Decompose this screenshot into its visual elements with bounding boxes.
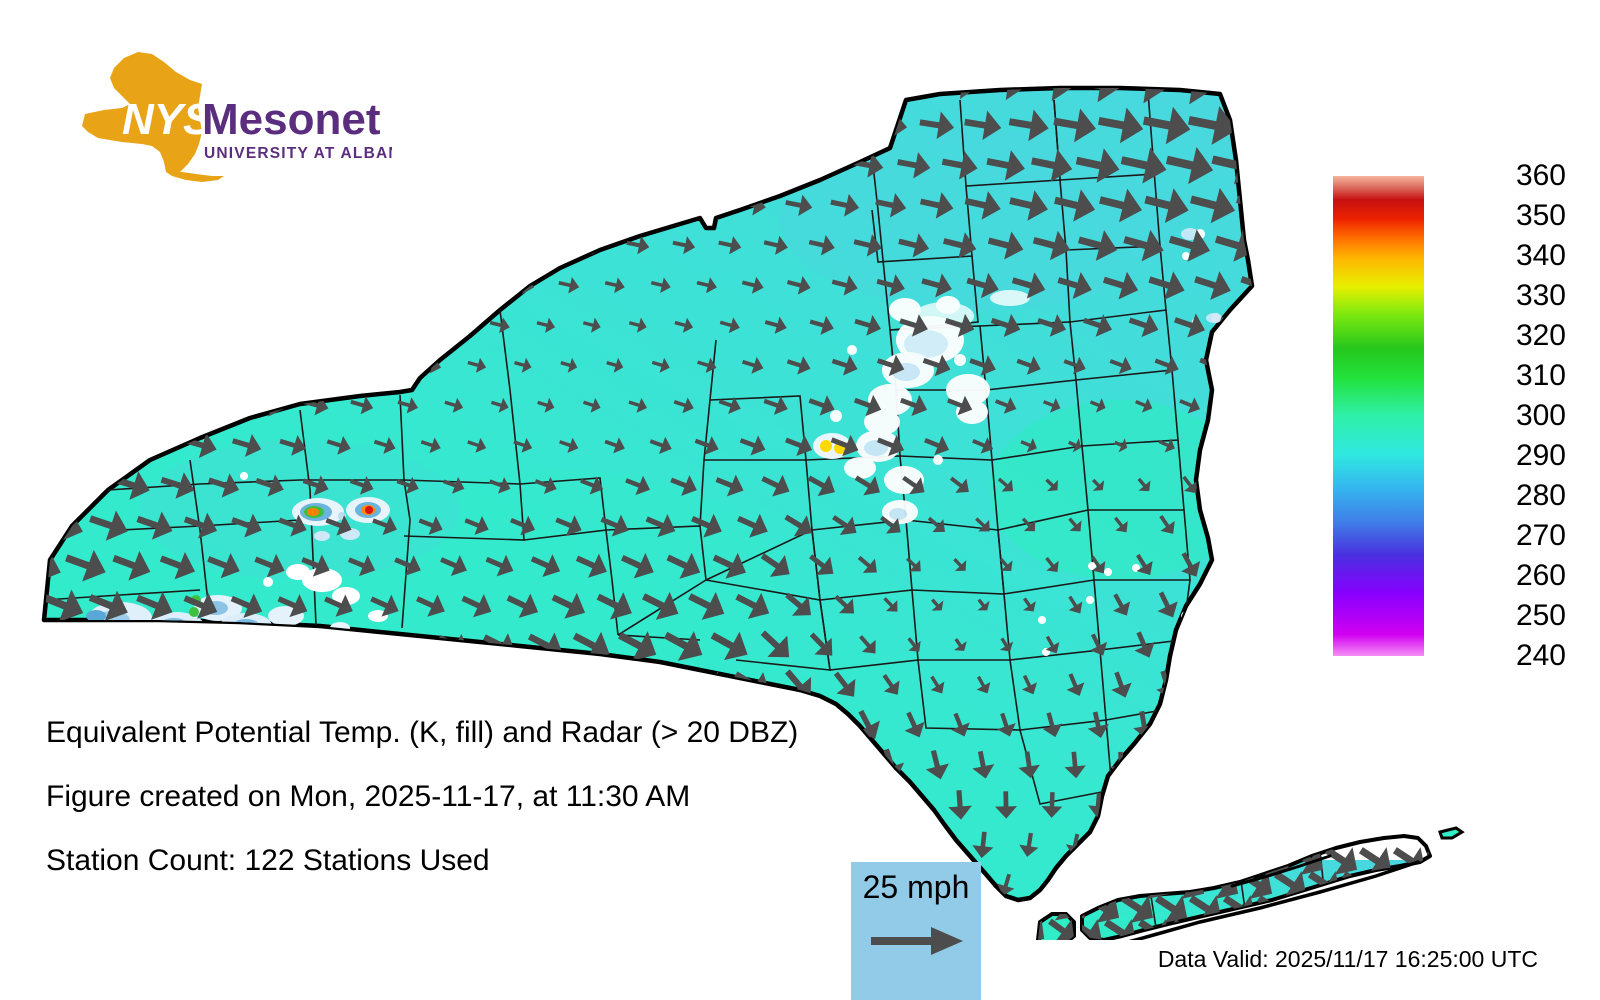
wind-arrow (290, 64, 342, 106)
caption-station-count: Station Count: 122 Stations Used (46, 846, 906, 876)
wind-arrow (714, 151, 746, 178)
wind-arrow (201, 225, 247, 264)
wind-arrow (1244, 668, 1273, 702)
wind-arrow (385, 145, 432, 184)
wind-arrow (1110, 833, 1132, 858)
island-speck (1440, 828, 1462, 838)
wind-arrow (549, 108, 589, 142)
wind-arrow (1243, 508, 1276, 543)
wind-arrow (1243, 431, 1274, 460)
wind-arrow (596, 109, 634, 141)
wind-arrow (455, 664, 500, 706)
wind-arrow (1156, 752, 1177, 778)
wind-arrow (1386, 884, 1434, 931)
wind-arrow (1352, 884, 1400, 931)
wind-arrow (1420, 884, 1468, 931)
wind-arrow (1369, 908, 1417, 940)
wind-arrow (316, 185, 362, 224)
colorbar-tick-300: 300 (1428, 401, 1566, 431)
wind-arrow (85, 106, 133, 145)
wind-arrow (1247, 832, 1271, 858)
wind-arrow (1156, 833, 1178, 857)
wind-arrow (1196, 586, 1230, 623)
wind-arrow (206, 389, 243, 421)
wind-arrow (179, 266, 223, 303)
wind-arrow (477, 66, 524, 104)
wind-arrow (1247, 751, 1271, 779)
wind-arrow (407, 105, 456, 145)
wind-arrow (180, 666, 221, 704)
wind-arrow (1224, 710, 1248, 740)
wind-arrow (13, 620, 67, 670)
wind-arrow (86, 663, 133, 706)
wind-arrow (198, 64, 249, 106)
wind-arrow (61, 622, 112, 669)
colorbar-tick-240: 240 (1428, 641, 1566, 671)
wind-arrow (109, 225, 155, 264)
data-valid-timestamp: Data Valid: 2025/11/17 16:25:00 UTC (1158, 948, 1538, 971)
wind-arrow (1242, 586, 1276, 623)
wind-arrow (410, 188, 451, 223)
wind-arrow (360, 104, 411, 146)
wind-arrow (736, 111, 769, 139)
wind-arrow (454, 106, 500, 144)
wind-arrow (247, 226, 292, 264)
wind-arrow (646, 192, 675, 217)
wind-arrow (65, 386, 108, 424)
wind-arrow (222, 184, 271, 225)
colorbar-tick-270: 270 (1428, 521, 1566, 551)
colorbar-tick-360: 360 (1428, 161, 1566, 191)
wind-arrow (227, 667, 266, 704)
wind-arrow (85, 185, 133, 225)
wind-arrow (363, 186, 407, 223)
wind-arrow (320, 269, 357, 301)
wind-arrow (175, 104, 227, 146)
wind-arrow (1114, 836, 1162, 883)
wind-arrow (273, 268, 313, 302)
wind-arrow (365, 666, 405, 703)
wind-arrow (336, 64, 388, 106)
wind-arrow (759, 71, 793, 99)
wind-arrow (1301, 908, 1349, 940)
wind-arrow (501, 107, 544, 143)
wind-arrow (108, 623, 155, 667)
wind-arrow (588, 660, 642, 711)
colorbar-tick-320: 320 (1428, 321, 1566, 351)
wind-arrow (828, 110, 862, 139)
wind-arrow (524, 67, 568, 103)
wind-arrow (505, 190, 540, 220)
wind-arrow (437, 230, 471, 260)
wind-arrow (244, 144, 295, 187)
wind-arrow (291, 144, 342, 186)
wind-arrow (479, 148, 520, 183)
wind-arrow (42, 347, 84, 384)
colorbar-tick-260: 260 (1428, 561, 1566, 591)
wind-arrow (1230, 100, 1287, 149)
wind-arrow (925, 830, 950, 860)
wind-arrow (111, 387, 153, 423)
wind-arrow (368, 270, 402, 299)
wind-arrow (229, 349, 265, 381)
colorbar-tick-330: 330 (1428, 281, 1566, 311)
wind-arrow (851, 71, 885, 100)
wind-arrow (574, 150, 610, 180)
caption-created: Figure created on Mon, 2025-11-17, at 11… (46, 782, 906, 812)
wind-arrow (41, 107, 86, 144)
wind-arrow (690, 111, 724, 140)
wind-arrow (1241, 349, 1276, 381)
wind-arrow (87, 266, 131, 304)
wind-arrow (204, 308, 244, 343)
wind-arrow (19, 307, 61, 343)
wind-key-label: 25 mph (851, 868, 981, 906)
wind-arrow (1221, 469, 1251, 500)
colorbar-tick-340: 340 (1428, 241, 1566, 271)
wind-arrow (274, 667, 313, 703)
wind-arrow (158, 388, 197, 423)
wind-arrow (153, 65, 202, 105)
colorbar-ticks: 360350340330320310300290280270260250240 (1428, 176, 1578, 656)
wind-arrow (267, 103, 319, 146)
wind-arrow (16, 463, 65, 506)
colorbar-tick-290: 290 (1428, 441, 1566, 471)
wind-arrow (133, 266, 177, 304)
wind-arrow (527, 149, 565, 181)
wind-arrow (1202, 751, 1224, 778)
wind-arrow (1177, 710, 1203, 741)
colorbar-gradient (1333, 176, 1424, 656)
wind-arrow (156, 625, 200, 666)
wind-arrow (20, 68, 61, 101)
wind-arrow (1220, 391, 1251, 420)
wind-arrow (666, 70, 702, 100)
wind-speed-key: 25 mph (851, 862, 981, 1000)
wind-arrow (1335, 908, 1383, 940)
wind-arrow (415, 272, 446, 299)
wind-arrow (1403, 860, 1451, 907)
wind-arrow (571, 68, 612, 102)
wind-arrow (619, 69, 658, 101)
wind-arrow (203, 626, 245, 665)
wind-arrow (198, 144, 250, 187)
wind-arrow (544, 661, 595, 709)
wind-arrow (324, 352, 354, 379)
wind-arrow (1179, 792, 1202, 818)
wind-arrow (38, 662, 88, 708)
wind-arrow (295, 227, 338, 264)
wind-arrow (1403, 908, 1451, 940)
wind-arrow (1063, 860, 1111, 907)
colorbar-tick-310: 310 (1428, 361, 1566, 391)
wind-arrow (531, 232, 560, 257)
wind-arrow (410, 665, 452, 704)
wind-arrow (157, 307, 199, 343)
wind-arrow (133, 665, 177, 706)
wind-arrow (88, 347, 130, 384)
wind-arrow (299, 310, 334, 340)
wind-arrow (805, 71, 839, 99)
wind-arrow (499, 663, 547, 708)
wind-arrow (713, 71, 748, 100)
wind-arrow (484, 231, 516, 258)
wind-arrow (463, 273, 491, 298)
wind-arrow (1224, 792, 1247, 819)
wind-arrow (131, 185, 180, 226)
wind-arrow (432, 146, 476, 183)
wind-arrow (643, 110, 679, 140)
wind-arrow (63, 226, 108, 264)
wind-arrow (346, 311, 378, 338)
wind-arrow (1087, 873, 1109, 896)
wind-arrow (458, 189, 496, 221)
wind-arrow (40, 425, 85, 465)
wind-arrow (226, 267, 268, 303)
wind-arrow (313, 103, 365, 146)
wind-arrow (244, 64, 295, 106)
wind-arrow (441, 314, 467, 336)
wind-arrow (1267, 908, 1315, 940)
wind-arrow (182, 348, 221, 382)
wind-arrow (621, 151, 655, 180)
caption-block: Equivalent Potential Temp. (K, fill) and… (46, 718, 906, 910)
wind-arrow (1148, 836, 1196, 883)
wind-arrow (553, 191, 586, 219)
wind-arrow (221, 103, 273, 146)
right-arrow-icon (869, 924, 965, 958)
colorbar-tick-280: 280 (1428, 481, 1566, 511)
wind-arrow (389, 229, 427, 261)
wind-arrow (338, 144, 387, 185)
wind-arrow (297, 627, 336, 663)
wind-arrow (1182, 836, 1230, 883)
wind-arrow (782, 111, 815, 139)
wind-arrow (109, 66, 156, 104)
caption-title: Equivalent Potential Temp. (K, fill) and… (46, 718, 906, 748)
colorbar: 360350340330320310300290280270260250240 (1333, 176, 1583, 666)
wind-arrow (1198, 668, 1229, 703)
wind-arrow (130, 105, 180, 146)
wind-arrow (1220, 627, 1253, 664)
wind-arrow (251, 309, 288, 342)
wind-arrow (342, 228, 382, 263)
wind-arrow (65, 307, 108, 344)
wind-arrow (1219, 547, 1253, 583)
wind-arrow (18, 147, 62, 184)
wind-arrow (41, 267, 84, 304)
wind-arrow (153, 144, 204, 186)
wind-arrow (269, 185, 317, 226)
wind-arrow (18, 227, 61, 264)
colorbar-tick-250: 250 (1428, 601, 1566, 631)
wind-arrow (276, 350, 309, 379)
wind-arrow (1080, 836, 1128, 883)
wind-arrow (760, 151, 792, 178)
wind-arrow (62, 146, 109, 185)
wind-arrow (1133, 792, 1155, 818)
wind-arrow (394, 313, 422, 338)
wind-arrow (250, 627, 290, 664)
wind-arrow (18, 386, 61, 424)
wind-arrow (40, 186, 85, 224)
wind-arrow (135, 347, 176, 383)
wind-arrow (430, 65, 479, 105)
wind-arrow (176, 184, 225, 226)
wind-arrow (320, 667, 359, 703)
wind-arrow (371, 353, 398, 377)
wind-arrow (107, 145, 156, 186)
wind-arrow (111, 307, 154, 344)
wind-arrow (692, 193, 721, 218)
colorbar-tick-350: 350 (1428, 201, 1566, 231)
wind-arrow (64, 67, 108, 103)
wind-arrow (87, 426, 131, 465)
wind-arrow (383, 64, 434, 106)
wind-arrow (1174, 627, 1207, 663)
wind-arrow (600, 192, 631, 218)
wind-arrow (1202, 833, 1224, 858)
wind-arrow (668, 151, 700, 179)
wind-arrow (155, 225, 202, 265)
